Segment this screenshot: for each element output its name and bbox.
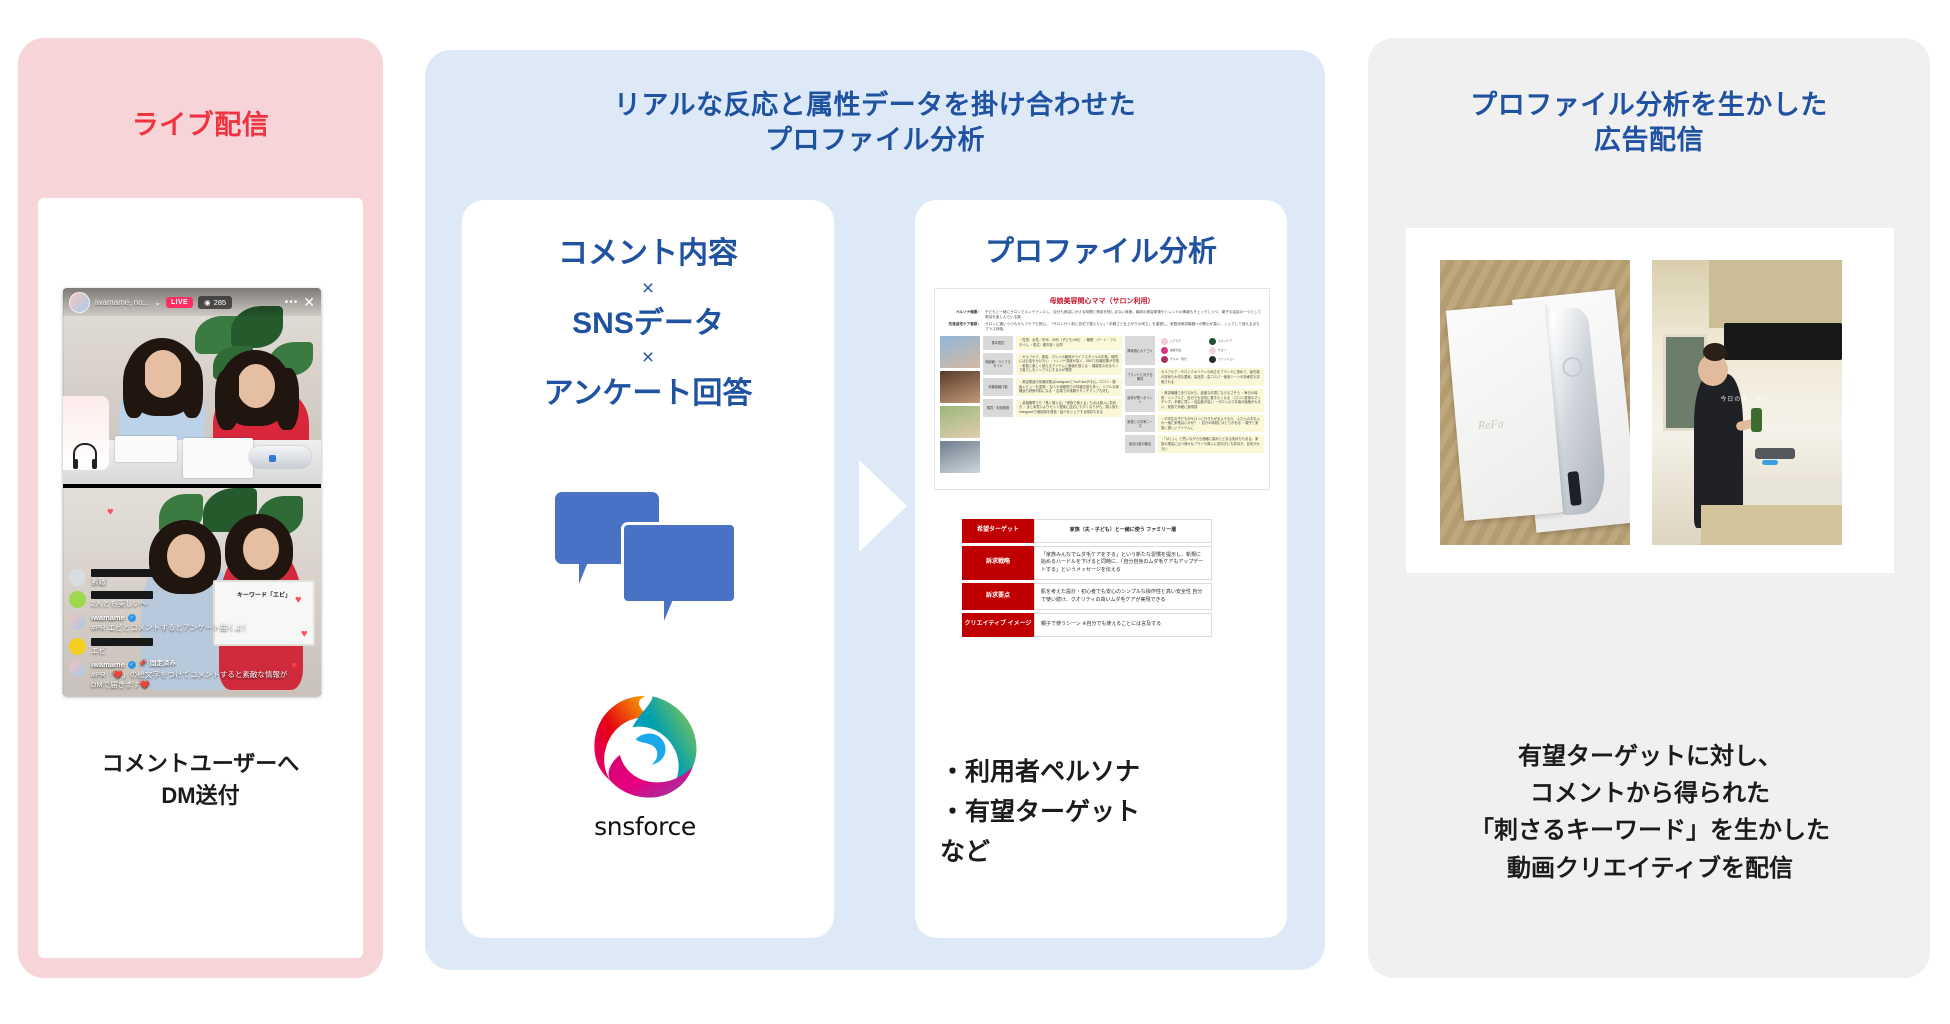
comment-text: 2人とも美しい〜	[91, 599, 153, 609]
bullet-item: など	[940, 832, 1280, 872]
panel-live-title: ライブ配信	[18, 108, 383, 143]
persona-cell-value: ・中学生の子どもがサロンに行きたがるようなら、ふだんのお手入れ一緒に家電はいかが…	[1158, 415, 1264, 433]
profile-output-bullets: ・利用者ペルソナ ・有望ターゲット など	[940, 752, 1280, 872]
product-box	[115, 436, 177, 462]
comment-author: iwamame ✓ 📌 固定済み	[91, 660, 293, 670]
interest-chip: グルメ・旅行	[1161, 356, 1207, 363]
masked-username	[91, 638, 153, 646]
spiral-logo-icon	[583, 688, 708, 806]
comment-author	[91, 638, 153, 646]
interest-chip: スキンケア	[1209, 338, 1255, 345]
strategy-key: クリエイティブ イメージ	[962, 613, 1034, 637]
persona-interest-chips: ヘアケア スキンケア 美容家電 サロン グルメ・旅行 ファッション	[1158, 336, 1264, 365]
persona-right-cells: 興味関心カテゴリ ヘアケア スキンケア 美容家電 サロン グルメ・旅行 ファッシ…	[1125, 336, 1264, 473]
comment-body: 素敵	[91, 569, 153, 587]
pinned-label: 固定済み	[150, 660, 176, 669]
bottle	[1751, 408, 1762, 432]
snsforce-wordmark: snsforce	[575, 812, 715, 841]
face	[143, 350, 183, 398]
strategy-table: 希望ターゲット 家族（夫・子ども）と一緒に使う ファミリー層 訴求戦略 「家族み…	[962, 516, 1212, 640]
product-box-lid: ReFa	[1446, 302, 1563, 521]
chip-dot	[1209, 356, 1216, 363]
hair-side	[123, 360, 145, 418]
kitchen-foreground	[1701, 505, 1842, 545]
product-box	[183, 438, 253, 478]
persona-cell-value: セルフケア・サロンクオリティの両立をブランドに求めて、最先端の技術も大切な要素。…	[1158, 368, 1264, 386]
comment-author	[91, 591, 153, 599]
chip-label: 美容家電	[1170, 349, 1181, 353]
persona-cell-key: ブランドに対する期待	[1125, 368, 1155, 386]
persona-selfcare-label: 先進自宅ケア意欲：	[941, 322, 981, 332]
persona-summary-text: 子どもと一緒にサロンでメンテナンスし、自分も美容にかける時間と費用を惜しまない母…	[985, 310, 1263, 320]
persona-cell-key: 訴求が響くポイント	[1125, 389, 1155, 411]
phone-mockup: iwamame, no... ⌄ LIVE ◉ 285 ••• ✕	[63, 288, 321, 696]
persona-cell-key: 基本属性	[983, 336, 1013, 349]
comment-item: iwamame ✓ #PR エビとコメントするとアンケート届くよ！	[69, 613, 293, 633]
chip-dot	[1161, 356, 1168, 363]
chip-label: サロン	[1218, 349, 1226, 353]
chip-dot	[1161, 347, 1168, 354]
comment-text: #PR「❤️」の絵文字をつけてコメントすると素敵な情報がDMで届きます❤️	[91, 670, 293, 690]
persona-photo-column	[940, 336, 980, 473]
chip-dot	[1209, 347, 1216, 354]
analysis-title-line-2: プロファイル分析	[425, 123, 1325, 158]
stove-flame	[1762, 460, 1778, 465]
analysis-title-line-1: リアルな反応と属性データを掛け合わせた	[425, 88, 1325, 123]
table-row: クリエイティブ イメージ 親子で使うシーン ※自分でも使えることには言及する	[962, 613, 1212, 637]
comment-author: iwamame ✓	[91, 613, 250, 623]
persona-left-cells: 基本属性 ・性別：女性／年代：40代（子ども10代） ・職業：パート・フルタイム…	[983, 336, 1122, 473]
live-panel-caption: コメントユーザーへ DM送付	[38, 748, 363, 812]
strategy-key: 訴求戦略	[962, 546, 1034, 581]
persona-cell-value: ・高価格帯でも「長く使える」「家族で使える」ものは購入に前向き ・まとめ買いより…	[1016, 399, 1122, 417]
masked-username	[91, 569, 153, 577]
input-source-1: コメント内容	[462, 232, 834, 276]
headphones-icon	[73, 443, 97, 460]
chip-label: ヘアケア	[1170, 340, 1181, 344]
eye-icon: ◉	[204, 298, 211, 307]
arrow-right-icon	[859, 460, 907, 552]
device-button-icon	[1561, 357, 1583, 379]
interest-chip: ファッション	[1209, 356, 1255, 363]
persona-cell-key: 興味関心カテゴリ	[1125, 336, 1155, 365]
table-row: 訴求戦略 「家族みんなでムダ毛ケアをする」という新たな習慣を提示し、新規に始める…	[962, 546, 1212, 581]
video-overlay-text: 今日の晩ごはん	[1720, 394, 1769, 403]
chip-label: スキンケア	[1218, 340, 1232, 344]
persona-cell-key: 家族との共有ニーズ	[1125, 415, 1155, 433]
persona-cell: 家族との共有ニーズ ・中学生の子どもがサロンに行きたがるようなら、ふだんのお手入…	[1125, 415, 1264, 433]
ads-panel-caption: 有望ターゲットに対し、 コメントから得られた 「刺さるキーワード」を生かした 動…	[1380, 738, 1920, 887]
persona-cell-value: ・美容機器でありながら、過度な手間にならなさそう ・毎日の時短・シンプルさ、自分…	[1158, 389, 1264, 411]
ads-title-line-1: プロファイル分析を生かした	[1368, 88, 1930, 123]
persona-summary-label: ペルソナ概要：	[941, 310, 981, 320]
streamer-username[interactable]: iwamame, no...	[95, 298, 149, 307]
panel-analysis-title: リアルな反応と属性データを掛け合わせた プロファイル分析	[425, 88, 1325, 158]
interest-chip: サロン	[1209, 347, 1255, 354]
comment-text: 素敵	[91, 577, 153, 587]
table-row: 訴求要点 肌を考えた設計・初心者でも安心のシンプルな操作性と高い安全性 自分で使…	[962, 583, 1212, 610]
chevron-down-icon[interactable]: ⌄	[154, 298, 161, 307]
face	[243, 528, 279, 570]
comment-author-name: iwamame	[91, 660, 125, 670]
avatar	[69, 591, 86, 608]
persona-summary-row: ペルソナ概要： 子どもと一緒にサロンでメンテナンスし、自分も美容にかける時間と費…	[935, 309, 1269, 321]
hair-bun	[1703, 343, 1727, 361]
face	[237, 364, 275, 408]
persona-selfcare-text: サロンに通いつつもセルフケアも熱心。「サロン行く前に自宅で整えたい」「手軽さと仕…	[985, 322, 1263, 332]
kitchen-cooking-thumbnail[interactable]: 今日の晩ごはん	[1652, 260, 1842, 545]
ads-caption-line-3: 「刺さるキーワード」を生かした	[1380, 812, 1920, 849]
comment-author	[91, 569, 153, 577]
live-comments-list: 素敵 2人とも美しい〜 iwamame ✓	[69, 569, 293, 690]
persona-cell: ブランドに対する期待 セルフケア・サロンクオリティの両立をブランドに求めて、最先…	[1125, 368, 1264, 386]
avatar	[69, 638, 86, 655]
operator-icon: ×	[462, 345, 834, 371]
input-source-2: SNSデータ	[462, 302, 834, 346]
avatar	[69, 660, 86, 677]
infographic-canvas: ライブ配信	[0, 0, 1950, 1024]
viewer-count: ◉ 285	[198, 296, 232, 309]
persona-selfcare-row: 先進自宅ケア意欲： サロンに通いつつもセルフケアも熱心。「サロン行く前に自宅で整…	[935, 321, 1269, 333]
live-top-bar: iwamame, no... ⌄ LIVE ◉ 285 ••• ✕	[63, 288, 321, 316]
strategy-value: 家族（夫・子ども）と一緒に使う ファミリー層	[1034, 519, 1212, 543]
more-options-icon[interactable]: •••	[285, 297, 299, 308]
frying-pan	[1755, 448, 1795, 459]
live-video-frame-bottom: キーワード「エビ」 ♥ ♥ ♥ ♥ 素敵	[63, 488, 321, 696]
bullet-item: ・有望ターゲット	[940, 792, 1280, 832]
ads-caption-line-1: 有望ターゲットに対し、	[1380, 738, 1920, 775]
product-unboxing-thumbnail[interactable]: ReFa	[1440, 260, 1630, 545]
strategy-value: 肌を考えた設計・初心者でも安心のシンプルな操作性と高い安全性 自分で使い続け、ク…	[1034, 583, 1212, 610]
persona-cell-value: ・「ほしい」と思いながらも価格に踏みとどまる気持ちもある。家族の理由に比べ静かな…	[1158, 435, 1264, 453]
range-hood	[1724, 323, 1842, 360]
ads-title-line-2: 広告配信	[1368, 123, 1930, 158]
comment-text: #PR エビとコメントするとアンケート届くよ！	[91, 623, 250, 633]
comment-body: iwamame ✓ #PR エビとコメントするとアンケート届くよ！	[91, 613, 250, 633]
comment-item: 素敵	[69, 569, 293, 587]
persona-cell: 価値観・ライフスタイル ・セルフケア、美容、グルメの趣味がライフスタイルの中核。…	[983, 353, 1122, 375]
strategy-key: 希望ターゲット	[962, 519, 1034, 543]
hair-side	[275, 368, 299, 430]
hair-side	[181, 360, 203, 418]
persona-document-preview: 母娘美容関心ママ（サロン利用） ペルソナ概要： 子どもと一緒にサロンでメンテナン…	[934, 288, 1270, 490]
chip-dot	[1161, 338, 1168, 345]
ads-caption-line-4: 動画クリエイティブを配信	[1380, 850, 1920, 887]
chat-bubbles-icon	[555, 492, 735, 612]
persona-cell-value: ・性別：女性／年代：40代（子ども10代） ・職業：パート・フルタイム ・居住：…	[1016, 336, 1122, 349]
beauty-device	[249, 446, 311, 468]
strategy-value: 「家族みんなでムダ毛ケアをする」という新たな習慣を提示し、新規に始めるハードルを…	[1034, 546, 1212, 581]
close-icon[interactable]: ✕	[303, 295, 315, 309]
operator-icon: ×	[462, 276, 834, 302]
persona-cell: 競合比較の観点 ・「ほしい」と思いながらも価格に踏みとどまる気持ちもある。家族の…	[1125, 435, 1264, 453]
verified-badge-icon: ✓	[128, 661, 136, 669]
persona-photo	[940, 371, 980, 403]
viewer-count-value: 285	[214, 298, 227, 307]
kitchen-cabinet	[1709, 260, 1842, 328]
persona-heading: 母娘美容関心ママ（サロン利用）	[935, 296, 1269, 306]
persona-photo	[940, 441, 980, 473]
persona-cell: 情報接触行動 ・美容関連の情報収集はInstagramとYouTubeが中心。口…	[983, 378, 1122, 396]
live-caption-line-1: コメントユーザーへ	[38, 748, 363, 780]
comment-item-pinned: iwamame ✓ 📌 固定済み #PR「❤️」の絵文字をつけてコメントすると素…	[69, 660, 293, 690]
strategy-value: 親子で使うシーン ※自分でも使えることには言及する	[1034, 613, 1212, 637]
comment-body: エビ	[91, 638, 153, 656]
pin-icon: 📌	[139, 660, 147, 669]
headphones-pill	[63, 396, 109, 470]
interest-chip: ヘアケア	[1161, 338, 1207, 345]
persona-cell-value: ・セルフケア、美容、グルメの趣味がライフスタイルの中核。時間にはお金をかけたい …	[1016, 353, 1122, 375]
live-video-frame-top: iwamame, no... ⌄ LIVE ◉ 285 ••• ✕	[63, 288, 321, 484]
bullet-item: ・利用者ペルソナ	[940, 752, 1280, 792]
comment-item: エビ	[69, 638, 293, 656]
comment-body: iwamame ✓ 📌 固定済み #PR「❤️」の絵文字をつけてコメントすると素…	[91, 660, 293, 690]
masked-username	[91, 591, 153, 599]
chip-dot	[1209, 338, 1216, 345]
interest-chip: 美容家電	[1161, 347, 1207, 354]
avatar[interactable]	[69, 292, 90, 313]
device-nozzle	[1567, 472, 1581, 507]
strategy-key: 訴求要点	[962, 583, 1034, 610]
persona-cell-key: 価値観・ライフスタイル	[983, 353, 1013, 375]
persona-cell-key: 情報接触行動	[983, 378, 1013, 396]
persona-cell: 興味関心カテゴリ ヘアケア スキンケア 美容家電 サロン グルメ・旅行 ファッシ…	[1125, 336, 1264, 365]
comment-text: エビ	[91, 646, 153, 656]
panel-ads-title: プロファイル分析を生かした 広告配信	[1368, 88, 1930, 158]
live-caption-line-2: DM送付	[38, 780, 363, 812]
data-inputs-stack: コメント内容 × SNSデータ × アンケート回答	[462, 232, 834, 415]
chip-label: ファッション	[1218, 358, 1235, 362]
brand-script-text: ReFa	[1477, 415, 1504, 432]
table-row: 希望ターゲット 家族（夫・子ども）と一緒に使う ファミリー層	[962, 519, 1212, 543]
persona-cell: 訴求が響くポイント ・美容機器でありながら、過度な手間にならなさそう ・毎日の時…	[1125, 389, 1264, 411]
chip-label: グルメ・旅行	[1170, 358, 1187, 362]
verified-badge-icon: ✓	[128, 614, 136, 622]
persona-cell: 購買・利用実態 ・高価格帯でも「長く使える」「家族で使える」ものは購入に前向き …	[983, 399, 1122, 417]
hair-side	[215, 370, 239, 430]
comment-author-name: iwamame	[91, 613, 125, 623]
chat-bubble-front	[621, 522, 737, 604]
persona-cell-key: 競合比較の観点	[1125, 435, 1155, 453]
persona-cell-key: 購買・利用実態	[983, 399, 1013, 417]
snsforce-logo: snsforce	[575, 688, 715, 848]
avatar	[69, 569, 86, 586]
persona-attribute-grid: 基本属性 ・性別：女性／年代：40代（子ども10代） ・職業：パート・フルタイム…	[935, 332, 1269, 478]
avatar	[69, 613, 86, 630]
live-badge: LIVE	[166, 297, 193, 308]
persona-photo	[940, 406, 980, 438]
profile-analysis-title: プロファイル分析	[915, 228, 1287, 270]
input-source-3: アンケート回答	[462, 372, 834, 416]
persona-cell-value: ・美容関連の情報収集はInstagramとYouTubeが中心。口コミ・動画レビ…	[1016, 378, 1122, 396]
persona-cell: 基本属性 ・性別：女性／年代：40代（子ども10代） ・職業：パート・フルタイム…	[983, 336, 1122, 349]
comment-item: 2人とも美しい〜	[69, 591, 293, 609]
device-indicator	[269, 455, 276, 462]
persona-photo	[940, 336, 980, 368]
comment-body: 2人とも美しい〜	[91, 591, 153, 609]
ads-caption-line-2: コメントから得られた	[1380, 775, 1920, 812]
